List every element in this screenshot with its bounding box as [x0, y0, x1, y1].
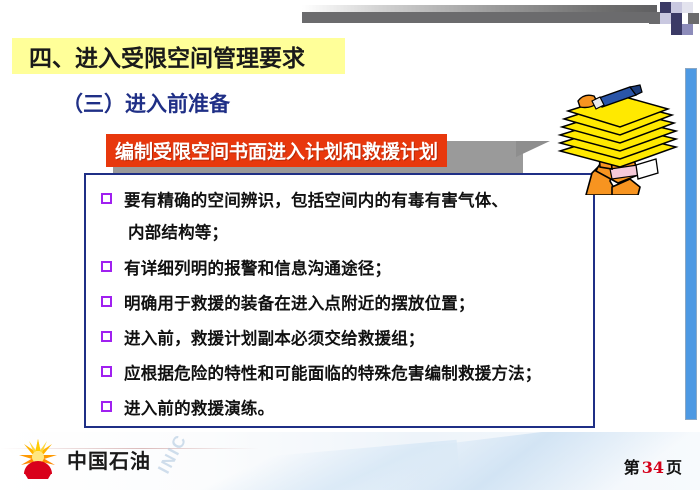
right-blue-accent-bar [685, 68, 697, 420]
page-suffix: 页 [666, 458, 682, 477]
checker-square-9 [682, 24, 693, 35]
list-item: 要有精确的空间辨识，包括空间内的有毒有害气体、 内部结构等； [94, 185, 587, 249]
list-item: 明确用于救援的装备在进入点附近的摆放位置； [94, 288, 587, 319]
page-number-value: 34 [642, 458, 664, 477]
purple-square-bullet-icon [101, 193, 112, 204]
red-highlight-banner: 编制受限空间书面进入计划和救援计划 [106, 134, 447, 167]
list-item: 进入前的救援演练。 [94, 393, 587, 424]
list-item: 应根据危险的特性和可能面临的特殊危害编制救援方法； [94, 358, 587, 389]
list-item-text: 要有精确的空间辨识，包括空间内的有毒有害气体、 内部结构等； [124, 185, 508, 249]
checker-square-8 [671, 24, 682, 35]
slide-title-band: 四、进入受限空间管理要求 [12, 38, 345, 74]
list-item: 进入前，救援计划副本必须交给救援组； [94, 323, 587, 354]
petrochina-sunburst-logo-icon [18, 438, 58, 480]
list-item-text: 明确用于救援的装备在进入点附近的摆放位置； [124, 288, 475, 319]
paper-stack-clipart [552, 83, 680, 195]
brand-name: 中国石油 [67, 445, 151, 474]
slide-canvas: 四、进入受限空间管理要求 （三）进入前准备 编制受限空间书面进入计划和救援计划 [0, 0, 700, 490]
list-item: 有详细列明的报警和信息沟通途径； [94, 253, 587, 284]
checker-square-6 [671, 13, 682, 24]
list-item-text: 应根据危险的特性和可能面临的特殊危害编制救援方法； [124, 358, 542, 389]
slide-subtitle: （三）进入前准备 [62, 88, 230, 118]
checker-square-4 [649, 13, 660, 24]
list-item-line-1: 要有精确的空间辨识，包括空间内的有毒有害气体、 [124, 191, 508, 210]
purple-square-bullet-icon [101, 401, 112, 412]
content-bullet-box: 要有精确的空间辨识，包括空间内的有毒有害气体、 内部结构等； 有详细列明的报警和… [84, 173, 595, 428]
slide-footer: INIC [0, 432, 700, 490]
top-solid-bar [302, 12, 664, 23]
list-item-text: 进入前的救援演练。 [124, 393, 274, 424]
purple-square-bullet-icon [101, 366, 112, 377]
right-pointing-gray-arrow-icon [516, 141, 550, 174]
checker-square-3 [682, 2, 693, 13]
purple-square-bullet-icon [101, 331, 112, 342]
purple-square-bullet-icon [101, 261, 112, 272]
page-prefix: 第 [624, 458, 640, 477]
checker-square-5 [660, 13, 671, 24]
checker-square-1 [660, 2, 671, 13]
list-item-line-2: 内部结构等； [124, 223, 228, 242]
purple-square-bullet-icon [101, 296, 112, 307]
page-title: 四、进入受限空间管理要求 [29, 39, 305, 73]
checker-square-7 [688, 13, 699, 24]
brand-logo: 中国石油 [18, 438, 151, 480]
banner-label: 编制受限空间书面进入计划和救援计划 [115, 137, 438, 164]
list-item-text: 有详细列明的报警和信息沟通途径； [124, 253, 391, 284]
list-item-text: 进入前，救援计划副本必须交给救援组； [124, 323, 425, 354]
page-number: 第34页 [624, 454, 682, 478]
checker-square-2 [671, 2, 682, 13]
